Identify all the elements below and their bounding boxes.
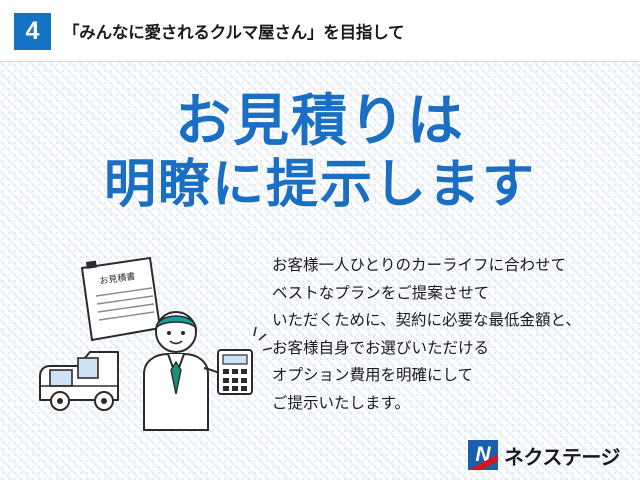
brand-name: ネクステージ — [504, 441, 620, 470]
headline: お見積りは 明瞭に提示します — [0, 90, 640, 218]
header: 4 「みんなに愛されるクルマ屋さん」を目指して — [0, 0, 640, 62]
body-copy-line: お客様一人ひとりのカーライフに合わせて — [272, 252, 628, 280]
estimate-document-icon: お見積書 — [82, 258, 160, 340]
body-copy-line: いただくために、契約に必要な最低金額と、 — [272, 307, 628, 335]
body-copy-line: ベストなプランをご提案させて — [272, 280, 628, 308]
brand-logo: ネクステージ — [468, 440, 620, 470]
body-copy-line: ご提示いたします。 — [272, 390, 628, 418]
body-copy-line: オプション費用を明確にして — [272, 362, 628, 390]
header-number-badge: 4 — [14, 13, 51, 50]
headline-line-2: 明瞭に提示します — [0, 152, 640, 218]
illustration: お見積書 — [26, 254, 276, 434]
nextage-logo-icon — [468, 440, 498, 470]
body-copy: お客様一人ひとりのカーライフに合わせて ベストなプランをご提案させて いただくた… — [272, 252, 628, 417]
promo-banner: 4 「みんなに愛されるクルマ屋さん」を目指して お見積りは 明瞭に提示します お… — [0, 0, 640, 480]
main-panel: お見積りは 明瞭に提示します お客様一人ひとりのカーライフに合わせて ベストなプ… — [0, 62, 640, 480]
page-title: 「みんなに愛されるクルマ屋さん」を目指して — [63, 19, 404, 43]
van-car-icon — [40, 352, 118, 410]
calculator-icon — [218, 327, 272, 394]
headline-line-1: お見積りは — [0, 90, 640, 152]
body-copy-line: お客様自身でお選びいただける — [272, 335, 628, 363]
